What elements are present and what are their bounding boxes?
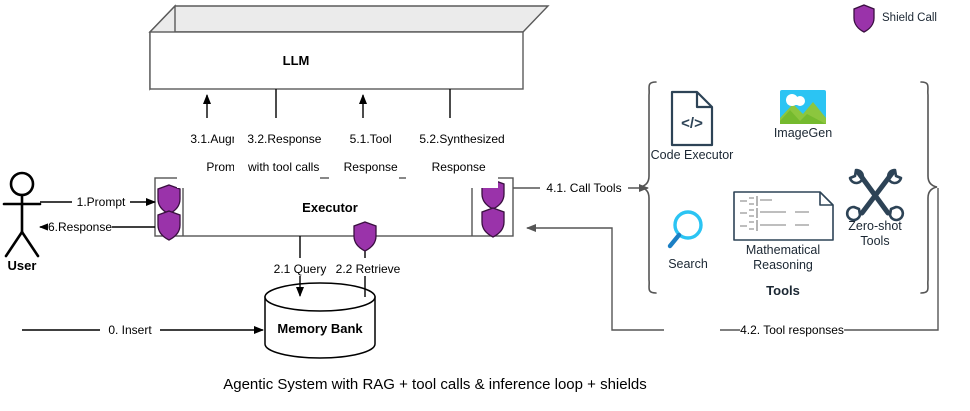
flow-label-retrieve: 2.2 Retrieve: [336, 262, 401, 276]
flow-label-response: 6.Response: [48, 220, 112, 234]
flow-label-synthesized-response-line2: Response: [432, 160, 486, 174]
flow-label-query: 2.1 Query: [274, 262, 327, 276]
flow-label-synthesized-response: 5.2.Synthesized Response: [406, 118, 498, 188]
flow-label-synthesized-response-line1: 5.2.Synthesized: [419, 132, 504, 146]
tool-label-code-executor: Code Executor: [651, 148, 734, 163]
tool-label-zero-shot-tools: Zero-shot Tools: [832, 219, 918, 249]
diagram-caption: Agentic System with RAG + tool calls & i…: [223, 376, 647, 393]
tool-label-math-reasoning-line1: Mathematical: [746, 243, 820, 257]
tool-label-zero-shot-tools-line1: Zero-shot: [848, 219, 902, 233]
tools-group-label: Tools: [766, 283, 800, 298]
flow-label-tool-responses: 4.2. Tool responses: [740, 323, 844, 337]
legend-shield-label: Shield Call: [882, 12, 937, 24]
flow-label-tool-response: 5.1.Tool Response: [329, 118, 399, 188]
memory-bank-label: Memory Bank: [277, 321, 362, 336]
user-node: [4, 173, 40, 256]
diagram-canvas: </>: [0, 0, 970, 411]
flow-label-response-tool-calls-line2: with tool calls: [248, 160, 319, 174]
magnifier-icon: [670, 212, 701, 246]
flow-label-prompt: 1.Prompt: [77, 195, 126, 209]
crossed-tools-icon: [847, 170, 903, 220]
shield-icon-exec-bottom: [354, 222, 376, 251]
executor-label: Executor: [302, 200, 358, 215]
image-picture-icon: [780, 90, 826, 124]
tool-label-image-gen: ImageGen: [774, 126, 832, 141]
flow-label-response-tool-calls: 3.2.Response with tool calls: [234, 118, 320, 188]
tool-label-search: Search: [668, 257, 708, 272]
flow-label-tool-response-line2: Response: [344, 160, 398, 174]
tool-label-math-reasoning-line2: Reasoning: [753, 258, 813, 272]
tool-label-math-reasoning: Mathematical Reasoning: [723, 243, 843, 273]
user-label: User: [8, 258, 37, 273]
flow-label-response-tool-calls-line1: 3.2.Response: [247, 132, 321, 146]
shield-icon-legend: [854, 5, 874, 32]
tool-label-zero-shot-tools-line2: Tools: [860, 234, 889, 248]
flow-label-insert: 0. Insert: [108, 323, 151, 337]
diagram-vector-layer: </>: [0, 0, 970, 411]
code-document-icon: </>: [672, 92, 712, 145]
flow-label-tool-response-line1: 5.1.Tool: [350, 132, 392, 146]
math-document-icon: [734, 192, 833, 240]
flow-label-call-tools: 4.1. Call Tools: [546, 181, 621, 195]
llm-node: [150, 6, 548, 89]
llm-label: LLM: [283, 53, 310, 68]
svg-text:</>: </>: [681, 115, 703, 132]
